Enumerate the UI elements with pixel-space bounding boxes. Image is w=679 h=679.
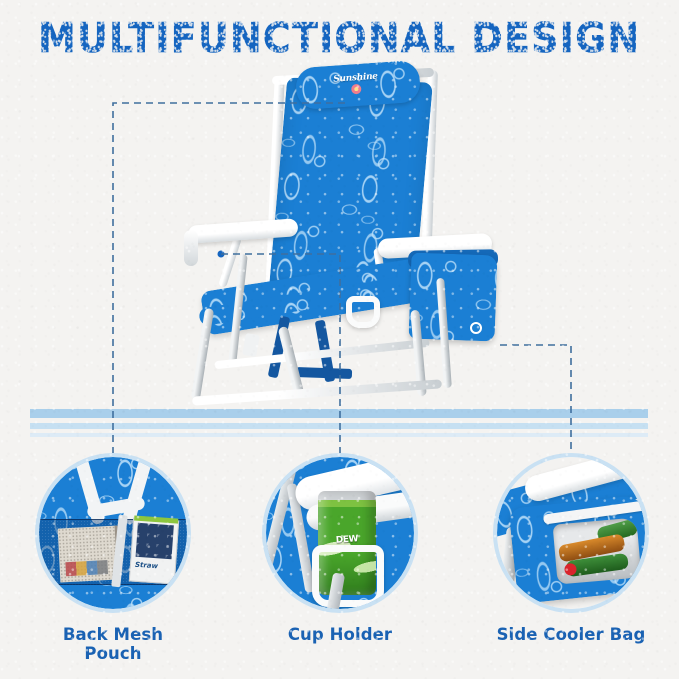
cup-holder-ring bbox=[312, 545, 384, 607]
packaged-item-window bbox=[136, 523, 174, 559]
feature-side-cooler-bag: Side Cooler Bag bbox=[493, 453, 649, 644]
connector-side-cooler-bag bbox=[500, 345, 571, 455]
feature-back-mesh-pouch: Straw Back Mesh Pouch bbox=[35, 453, 191, 663]
page-title-text: MULTIFUNCTIONAL DESIGN bbox=[38, 14, 640, 62]
feature-caption-side-cooler-bag: Side Cooler Bag bbox=[493, 625, 649, 644]
connector-back-mesh-pouch bbox=[113, 103, 345, 455]
feature-caption-back-mesh-pouch: Back Mesh Pouch bbox=[35, 625, 191, 663]
packaged-item: Straw bbox=[129, 517, 179, 584]
feature-image-side-cooler-bag bbox=[493, 453, 649, 613]
page-title: MULTIFUNCTIONAL DESIGN bbox=[0, 14, 679, 62]
feature-image-cup-holder: DEW bbox=[262, 453, 418, 613]
feature-caption-cup-holder: Cup Holder bbox=[262, 625, 418, 644]
cooler-bag-liner bbox=[553, 517, 642, 584]
feature-cup-holder: DEW Cup Holder bbox=[262, 453, 418, 644]
feature-image-back-mesh-pouch: Straw bbox=[35, 453, 191, 613]
packaged-item-label: Straw bbox=[135, 561, 159, 571]
connector-cup-holder bbox=[221, 254, 340, 455]
notebook-item bbox=[58, 525, 121, 582]
